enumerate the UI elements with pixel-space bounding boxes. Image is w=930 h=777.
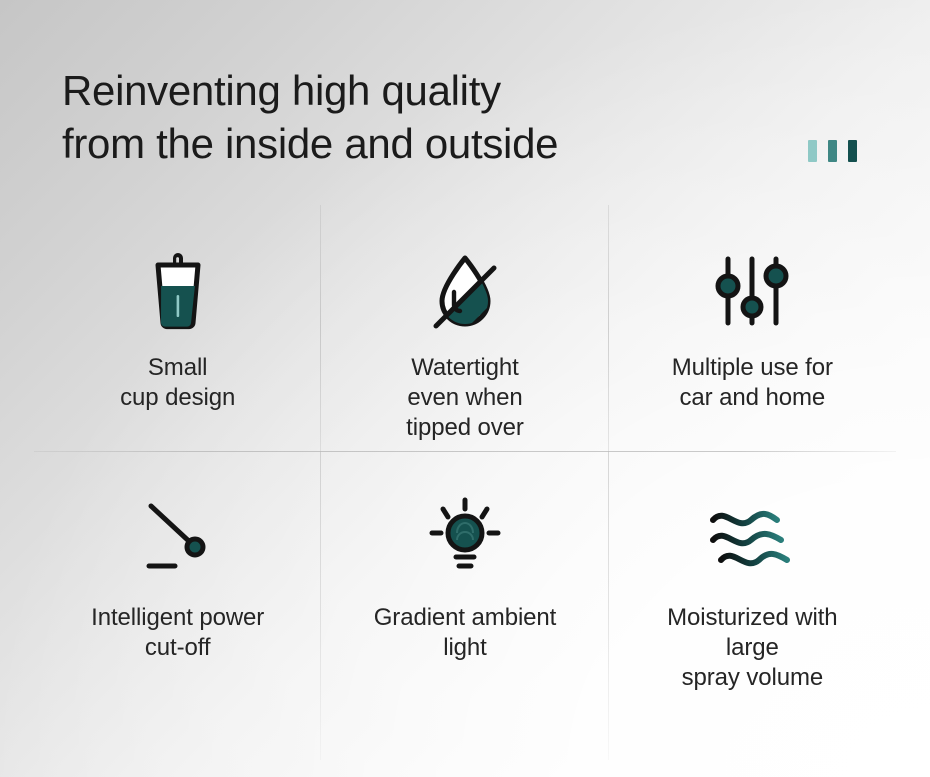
cup-icon: [142, 245, 214, 337]
accent-bar-mid: [828, 140, 837, 162]
page-title: Reinventing high quality from the inside…: [62, 64, 762, 170]
light-bulb-icon: [424, 493, 506, 579]
feature-cell-intelligent-power-cutoff: Intelligent power cut-off: [34, 451, 321, 760]
feature-grid: Small cup design: [34, 205, 896, 760]
feature-cell-small-cup-design: Small cup design: [34, 205, 321, 451]
accent-bar-light: [808, 140, 817, 162]
feature-caption: Intelligent power cut-off: [91, 603, 264, 663]
feature-caption: Gradient ambient light: [374, 603, 557, 663]
feature-caption: Watertight even when tipped over: [406, 353, 524, 443]
feature-caption: Multiple use for car and home: [672, 353, 833, 413]
feature-cell-gradient-ambient-light: Gradient ambient light: [321, 451, 608, 760]
no-water-droplet-icon: [423, 245, 507, 337]
feature-cell-large-spray-volume: Moisturized with large spray volume: [609, 451, 896, 760]
accent-bar-dark: [848, 140, 857, 162]
three-bar-accent: [808, 140, 857, 162]
feature-cell-multiple-use: Multiple use for car and home: [609, 205, 896, 451]
feature-caption: Moisturized with large spray volume: [667, 603, 837, 693]
feature-caption: Small cup design: [120, 353, 235, 413]
power-switch-icon: [137, 493, 219, 579]
mist-waves-icon: [707, 493, 797, 579]
sliders-icon: [710, 245, 794, 337]
feature-cell-watertight: Watertight even when tipped over: [321, 205, 608, 451]
feature-highlight-page: Reinventing high quality from the inside…: [0, 0, 930, 777]
